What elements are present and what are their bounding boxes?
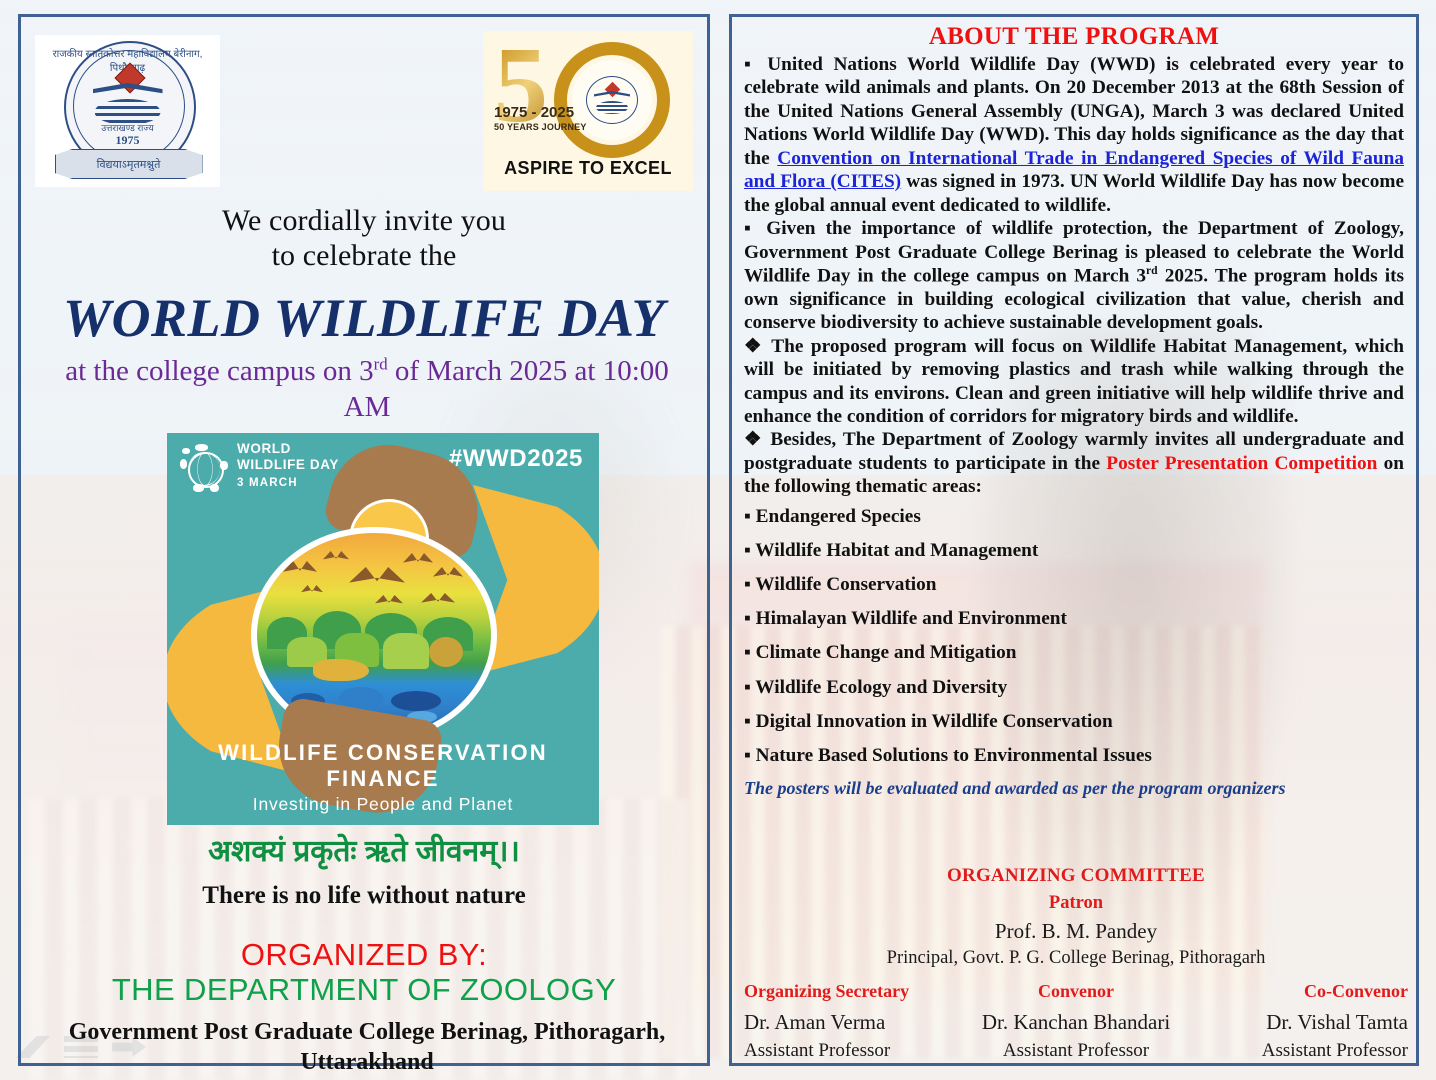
when-ordinal: rd <box>374 354 388 373</box>
wwd-theme-subtitle: Investing in People and Planet <box>167 794 599 815</box>
committee-roles-row: Organizing Secretary Dr. Aman Verma Assi… <box>744 981 1408 1062</box>
patron-designation: Principal, Govt. P. G. College Berinag, … <box>744 948 1408 969</box>
wwd-brand-text: WORLD WILDLIFE DAY 3 MARCH <box>237 441 339 490</box>
about-program-heading: ABOUT THE PROGRAM <box>744 23 1404 51</box>
wwd-theme-title: WILDLIFE CONSERVATION FINANCE <box>167 740 599 792</box>
theme-item: ▪ Digital Innovation in Wildlife Conserv… <box>744 710 1404 733</box>
theme-item: ▪ Endangered Species <box>744 505 1404 528</box>
member-name: Dr. Vishal Tamta <box>1189 1010 1408 1035</box>
organized-by-label: ORGANIZED BY: <box>21 937 707 973</box>
wwd-hashtag: #WWD2025 <box>449 445 583 473</box>
fifty-tagline: ASPIRE TO EXCEL <box>488 158 688 179</box>
member-role: Organizing Secretary <box>744 981 963 1002</box>
when-prefix: at the college campus on 3 <box>65 355 373 387</box>
wwd-theme-text: WILDLIFE CONSERVATION FINANCE Investing … <box>167 740 599 815</box>
about-paragraph-1: ▪ United Nations World Wildlife Day (WWD… <box>744 53 1404 217</box>
about-program-section: ABOUT THE PROGRAM ▪ United Nations World… <box>744 23 1404 799</box>
patron-label: Patron <box>744 893 1408 914</box>
invite-line-1: We cordially invite you <box>21 203 707 238</box>
fifty-years-range: 1975 - 2025 <box>494 104 574 121</box>
member-designation: Assistant Professor <box>744 1040 963 1062</box>
committee-member: Co-Convenor Dr. Vishal Tamta Assistant P… <box>1189 981 1408 1062</box>
fifty-years-graphic: 5 1975 - 2025 50 YEARS JOURNEY ASPIRE TO… <box>488 36 688 186</box>
fifty-years-logo: 5 1975 - 2025 50 YEARS JOURNEY ASPIRE TO… <box>483 31 693 191</box>
theme-item: ▪ Wildlife Habitat and Management <box>744 539 1404 562</box>
sanskrit-quote: अशक्यं प्रकृतेः ऋते जीवनम्।। <box>21 829 707 870</box>
poster-root: राजकीय स्नातकोत्तर महाविद्यालय बेरीनाग, … <box>0 0 1436 1080</box>
p2-ordinal: rd <box>1146 264 1158 277</box>
theme-item: ▪ Wildlife Conservation <box>744 573 1404 596</box>
event-when-where: at the college campus on 3rd of March 20… <box>55 353 679 426</box>
wwd-brand-lockup: WORLD WILDLIFE DAY 3 MARCH <box>179 441 339 493</box>
theme-item: ▪ Wildlife Ecology and Diversity <box>744 676 1404 699</box>
thematic-areas-list: ▪ Endangered Species ▪ Wildlife Habitat … <box>744 505 1404 767</box>
fifty-years-journey: 50 YEARS JOURNEY <box>494 122 587 132</box>
wwd-2025-artwork: WORLD WILDLIFE DAY 3 MARCH #WWD2025 <box>167 433 599 825</box>
member-designation: Assistant Professor <box>966 1040 1185 1062</box>
theme-item: ▪ Nature Based Solutions to Environmenta… <box>744 744 1404 767</box>
wwd-brand-date: 3 MARCH <box>237 477 298 489</box>
theme-item: ▪ Himalayan Wildlife and Environment <box>744 607 1404 630</box>
committee-title: ORGANIZING COMMITTEE <box>744 865 1408 887</box>
committee-member: Convenor Dr. Kanchan Bhandari Assistant … <box>966 981 1185 1062</box>
logo-row: राजकीय स्नातकोत्तर महाविद्यालय बेरीनाग, … <box>21 17 707 177</box>
when-suffix: of March 2025 at 10:00 AM <box>344 355 669 423</box>
organizing-department: THE DEPARTMENT OF ZOOLOGY <box>21 972 707 1008</box>
member-designation: Assistant Professor <box>1189 1040 1408 1062</box>
theme-item: ▪ Climate Change and Mitigation <box>744 641 1404 664</box>
seal-motto-banner: विद्ययाऽमृतमश्नुते <box>55 149 203 179</box>
fifty-embedded-seal-icon <box>586 76 638 124</box>
poster-competition-highlight: Poster Presentation Competition <box>1106 453 1377 474</box>
globe-with-animals-icon <box>179 443 229 493</box>
event-title: WORLD WILDLIFE DAY <box>21 287 707 349</box>
member-name: Dr. Aman Verma <box>744 1010 963 1035</box>
fifty-seal-waves-icon <box>596 101 628 114</box>
patron-name: Prof. B. M. Pandey <box>744 919 1408 944</box>
college-seal-graphic: राजकीय स्नातकोत्तर महाविद्यालय बेरीनाग, … <box>53 41 203 181</box>
invite-line-2: to celebrate the <box>21 238 707 273</box>
member-role: Convenor <box>966 981 1185 1002</box>
right-panel: ABOUT THE PROGRAM ▪ United Nations World… <box>729 14 1419 1066</box>
organizing-committee-section: ORGANIZING COMMITTEE Patron Prof. B. M. … <box>744 865 1408 1062</box>
committee-member: Organizing Secretary Dr. Aman Verma Assi… <box>744 981 963 1062</box>
quote-translation: There is no life without nature <box>21 882 707 910</box>
member-role: Co-Convenor <box>1189 981 1408 1002</box>
seal-year: 1975 <box>53 133 203 148</box>
wwd-brand-line2: WILDLIFE DAY <box>237 457 339 472</box>
left-panel: राजकीय स्नातकोत्तर महाविद्यालय बेरीनाग, … <box>18 14 710 1066</box>
about-paragraph-4: ❖ Besides, The Department of Zoology war… <box>744 428 1404 498</box>
organizing-college: Government Post Graduate College Berinag… <box>57 1017 677 1077</box>
about-paragraph-2: ▪ Given the importance of wildlife prote… <box>744 217 1404 335</box>
member-name: Dr. Kanchan Bhandari <box>966 1010 1185 1035</box>
evaluation-note: The posters will be evaluated and awarde… <box>744 778 1404 799</box>
wwd-brand-line1: WORLD <box>237 441 291 456</box>
college-seal-logo: राजकीय स्नातकोत्तर महाविद्यालय बेरीनाग, … <box>35 35 220 187</box>
about-paragraph-3: ❖ The proposed program will focus on Wil… <box>744 335 1404 429</box>
invitation-lines: We cordially invite you to celebrate the <box>21 203 707 274</box>
